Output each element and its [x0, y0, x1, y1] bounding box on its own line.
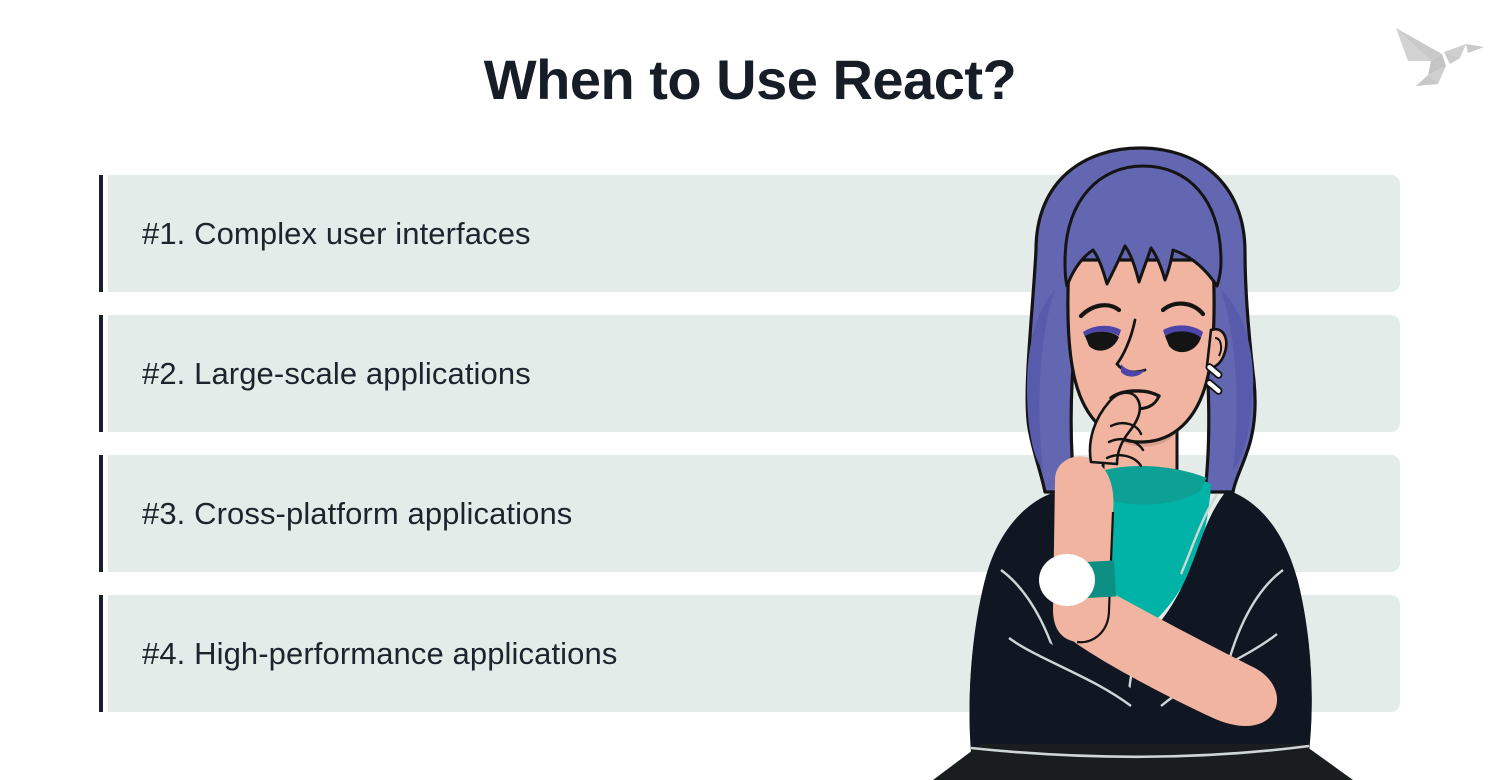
list-item-label: #3. Cross-platform applications	[142, 496, 572, 532]
accent-bar	[99, 595, 103, 712]
list-item-label: #2. Large-scale applications	[142, 356, 531, 392]
slide-canvas: When to Use React? #1. Complex user inte…	[0, 0, 1500, 780]
list-item-label: #4. High-performance applications	[142, 636, 617, 672]
thinking-woman-illustration	[905, 140, 1375, 780]
list-item-label: #1. Complex user interfaces	[142, 216, 531, 252]
accent-bar	[99, 315, 103, 432]
watch-face	[1039, 554, 1095, 606]
accent-bar	[99, 455, 103, 572]
page-title: When to Use React?	[0, 52, 1500, 108]
accent-bar	[99, 175, 103, 292]
